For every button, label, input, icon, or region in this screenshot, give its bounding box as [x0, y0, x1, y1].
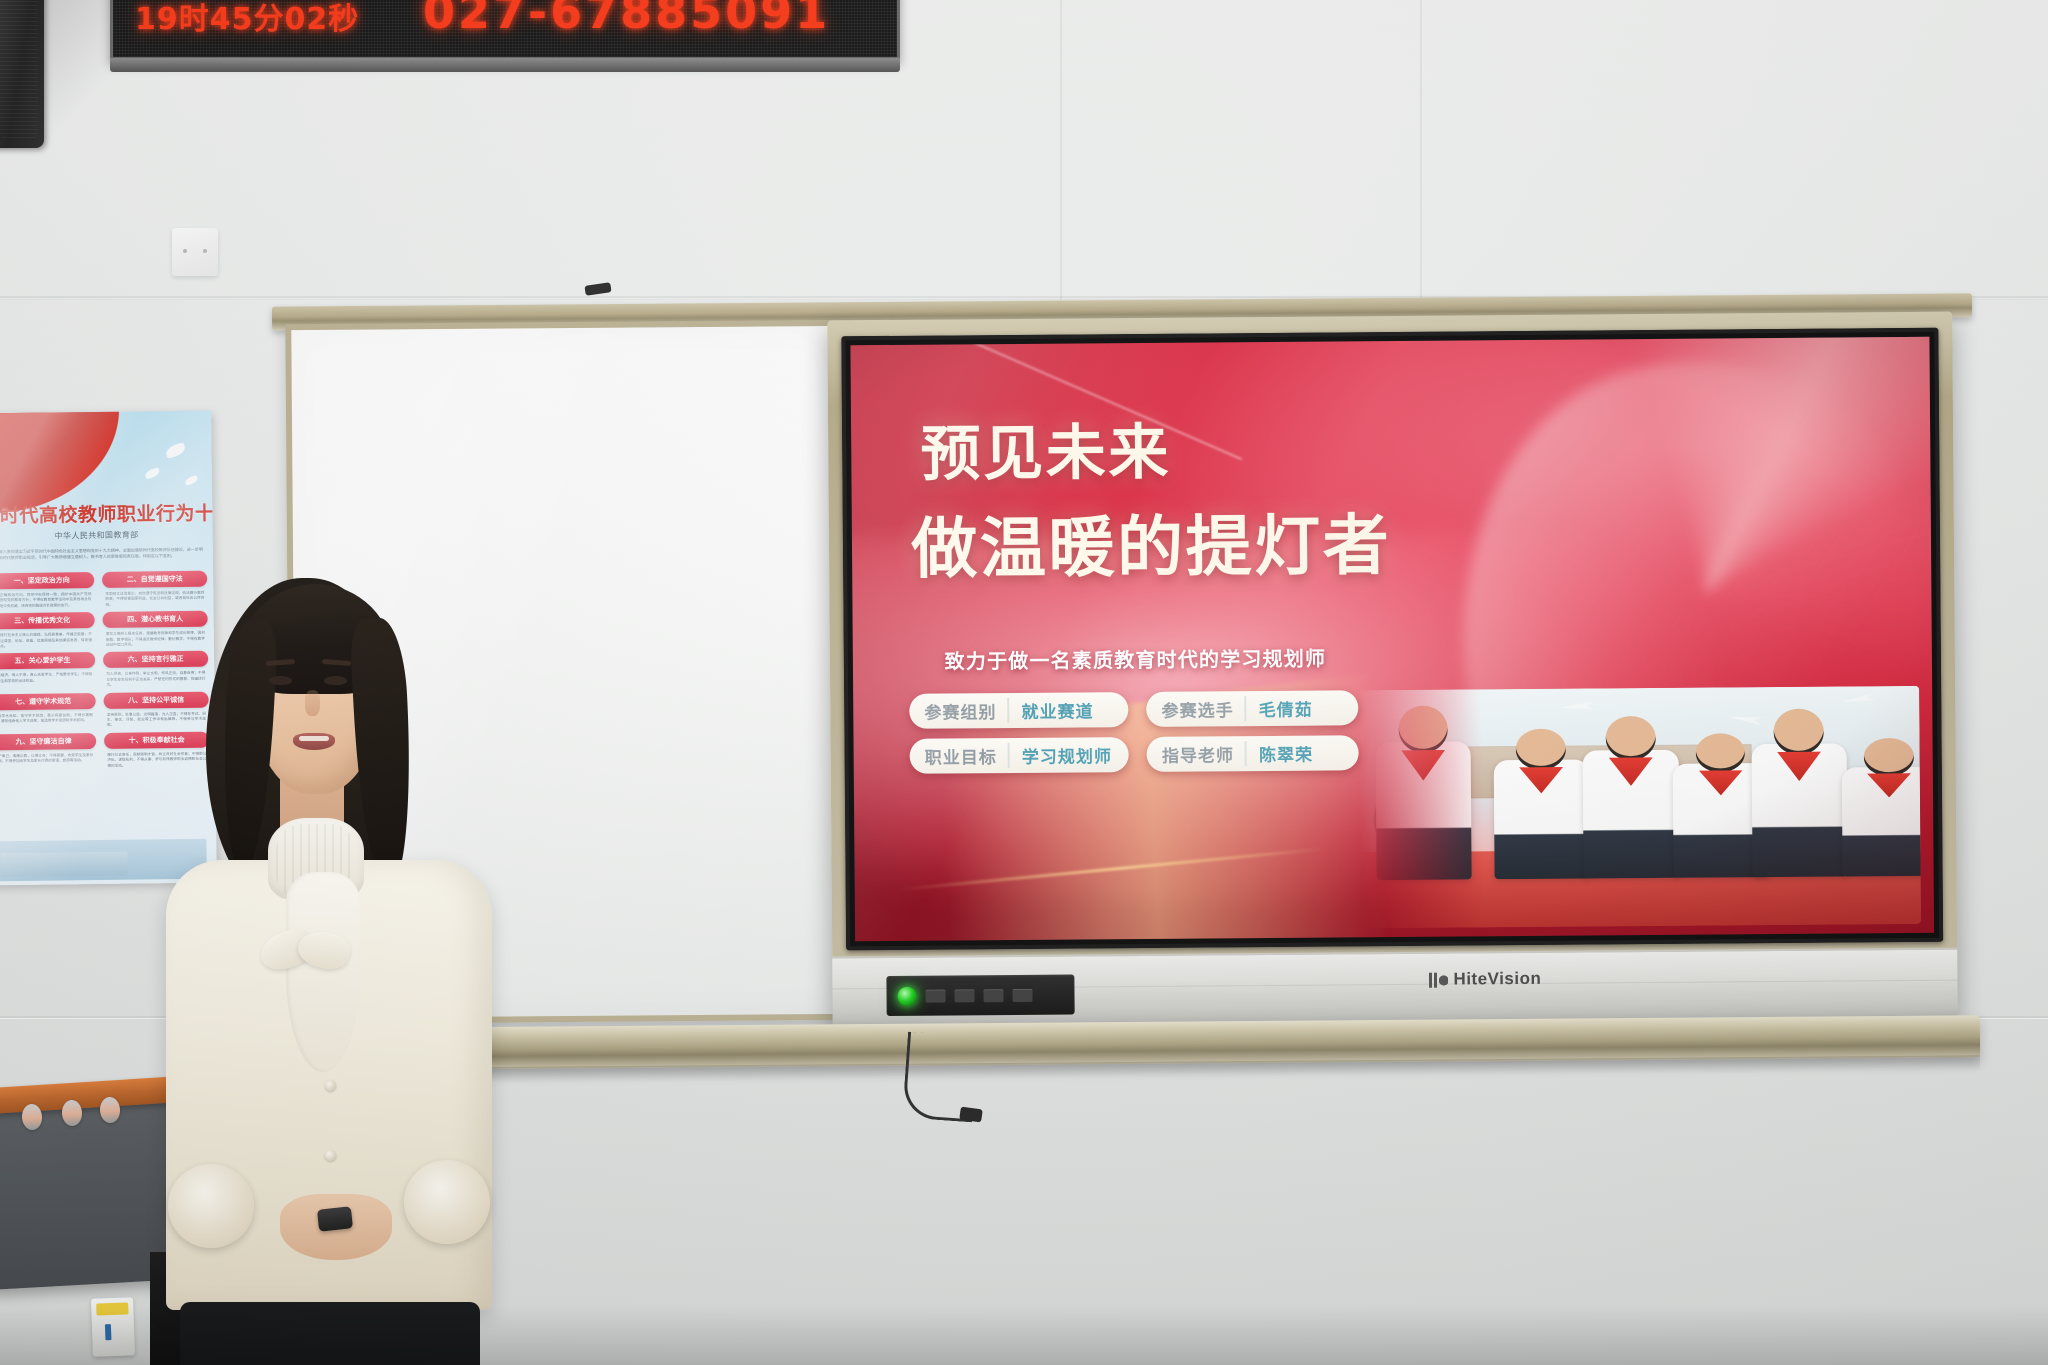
info-pill-key: 参赛选手 — [1155, 696, 1246, 722]
display-screen[interactable]: 预见未来 做温暖的提灯者 致力于做一名素质教育时代的学习规划师 参赛组别 就业赛… — [850, 337, 1934, 941]
display-control-panel[interactable] — [886, 975, 1074, 1016]
info-pill: 参赛选手 毛倩茹 — [1146, 690, 1358, 727]
poster-flag-graphic — [0, 411, 120, 514]
slide-info-pills: 参赛组别 就业赛道 参赛选手 毛倩茹 职业目标 学习规划师 指导老师 陈翠荣 — [909, 690, 1359, 774]
hitevision-logo-icon — [1428, 972, 1447, 987]
poster-item: 一、坚定政治方向 坚持正确政治方向，同党中央保持一致，拥护中国共产党领导，贯彻党… — [0, 572, 95, 609]
poster-item-body: 带头践行社会主义核心价值观，弘扬真善美，传播正能量；不得通过课堂、论坛、讲座、信… — [0, 628, 95, 650]
display-bezel: 预见未来 做温暖的提灯者 致力于做一名素质教育时代的学习规划师 参赛组别 就业赛… — [841, 328, 1943, 951]
usb-port-icon[interactable] — [925, 989, 945, 1002]
led-marquee-board: 027-67885091 19时45分02秒 — [110, 0, 900, 60]
wall-switch-plate[interactable] — [172, 228, 218, 276]
poster-item-head: 五、关心爱护学生 — [0, 652, 95, 669]
display-brand: HiteVision — [1428, 969, 1541, 990]
coat-button — [325, 1150, 336, 1161]
screenshot-root: 027-67885091 19时45分02秒 新时代高校教师职业行为十项准则 中… — [0, 0, 2048, 1365]
poster-item-head: 七、遵守学术规范 — [0, 693, 96, 710]
poster-item-head: 三、传播优秀文化 — [0, 612, 95, 629]
smart-display[interactable]: 预见未来 做温暖的提灯者 致力于做一名素质教育时代的学习规划师 参赛组别 就业赛… — [827, 312, 1958, 1031]
dove-icon — [144, 467, 161, 479]
presenter-eye-right — [324, 676, 347, 685]
led-time-text: 19时45分02秒 — [135, 0, 359, 38]
info-pill-value: 学习规划师 — [1010, 742, 1122, 768]
wall-speaker — [0, 0, 44, 148]
power-indicator-icon[interactable] — [897, 986, 916, 1005]
presenter-fur-cuff-left — [168, 1164, 254, 1248]
dove-icon — [164, 442, 186, 459]
hdmi-port-icon[interactable] — [954, 989, 974, 1002]
poster-item-body: 严慈相济，诲人不倦，真心关爱学生，严格要求学生；不得损害学生和学校的合法权益。 — [0, 668, 95, 684]
presentation-clicker[interactable] — [317, 1206, 353, 1231]
info-pill: 参赛组别 就业赛道 — [909, 692, 1128, 729]
poster-title: 新时代高校教师职业行为十项准则 — [0, 499, 213, 529]
audio-port-icon[interactable] — [983, 989, 1003, 1002]
poster-item-head: 一、坚定政治方向 — [0, 572, 94, 589]
dove-icon — [184, 475, 199, 486]
info-pill: 指导老师 陈翠荣 — [1147, 735, 1359, 772]
info-pill-key: 指导老师 — [1156, 741, 1247, 767]
poster-item: 九、坚守廉洁自律 严于律己，清廉从教，以德立身；不得索要、收受学生及家长财物，不… — [0, 733, 96, 770]
info-pill: 职业目标 学习规划师 — [910, 737, 1129, 774]
slide-title: 预见未来 做温暖的提灯者 — [910, 413, 1391, 592]
presenter-nose — [305, 690, 320, 716]
switch-screw-right — [203, 249, 207, 253]
slide-title-line1: 预见未来 — [910, 413, 1391, 494]
info-pill-key: 参赛组别 — [918, 698, 1009, 724]
info-pill-value: 就业赛道 — [1009, 697, 1103, 723]
poster-item-body: 秉持学术良知，恪守学术规范，勇于探索创新；不得抄袭剽窃、篡改侵吞他人学术成果，或… — [0, 709, 96, 725]
display-brand-text: HiteVision — [1453, 969, 1541, 990]
poster-item: 五、关心爱护学生 严慈相济，诲人不倦，真心关爱学生，严格要求学生；不得损害学生和… — [0, 652, 95, 689]
presenter-fur-cuff-right — [404, 1160, 490, 1244]
wall-panel-joint-1 — [1060, 0, 1062, 300]
floor-shadow — [0, 1305, 2048, 1365]
presenter-eye-left — [269, 676, 292, 685]
poster-item-body: 严于律己，清廉从教，以德立身；不得索要、收受学生及家长财物，不得参加由学生及家长… — [0, 749, 96, 765]
poster-item: 三、传播优秀文化 带头践行社会主义核心价值观，弘扬真善美，传播正能量；不得通过课… — [0, 612, 95, 649]
led-phone-text: 027-67885091 — [423, 0, 830, 39]
led-board-frame-bottom — [110, 58, 900, 72]
presenter-bow-tie — [260, 932, 356, 978]
presenter — [150, 560, 520, 1365]
slide-title-line2: 做温暖的提灯者 — [911, 503, 1392, 591]
poster-subtitle: 中华人民共和国教育部 — [0, 529, 213, 543]
poster-item: 七、遵守学术规范 秉持学术良知，恪守学术规范，勇于探索创新；不得抄袭剽窃、篡改侵… — [0, 693, 96, 730]
poster-item-body: 坚持正确政治方向，同党中央保持一致，拥护中国共产党领导，贯彻党的教育方针；不得在… — [0, 588, 95, 610]
slide-subtitle: 致力于做一名素质教育时代的学习规划师 — [944, 642, 1326, 674]
info-pill-value: 毛倩茹 — [1247, 695, 1323, 721]
poster-item-head: 九、坚守廉洁自律 — [0, 733, 96, 750]
info-pill-value: 陈翠荣 — [1247, 740, 1323, 766]
coat-button — [325, 1080, 336, 1091]
presenter-mouth — [293, 733, 335, 750]
info-pill-key: 职业目标 — [919, 743, 1010, 769]
aux-port-icon[interactable] — [1012, 988, 1032, 1001]
switch-screw-left — [183, 249, 187, 253]
wall-panel-joint-2 — [1420, 0, 1422, 300]
